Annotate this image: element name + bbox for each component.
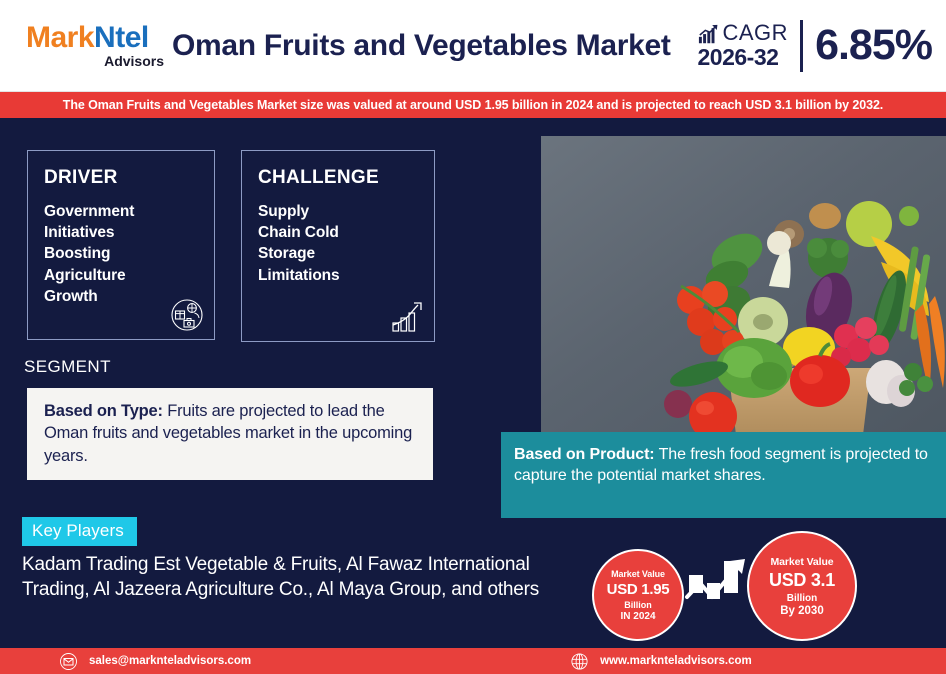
bar-chart-growth-icon bbox=[698, 24, 720, 44]
driver-card: DRIVER Government Initiatives Boosting A… bbox=[27, 150, 215, 340]
cagr-label-row: CAGR bbox=[698, 22, 789, 44]
infographic-page: MarkNtel Advisors Oman Fruits and Vegeta… bbox=[0, 0, 946, 674]
driver-title: DRIVER bbox=[44, 167, 200, 189]
logo-ntel-text: Ntel bbox=[94, 21, 149, 54]
cagr-section: CAGR 2026-32 6.85% bbox=[698, 20, 933, 72]
cagr-years: 2026-32 bbox=[698, 46, 789, 69]
logo-wordmark: MarkNtel bbox=[26, 23, 166, 53]
end-unit: Billion bbox=[787, 593, 818, 604]
footer-website-text: www.marknteladvisors.com bbox=[600, 655, 752, 667]
segment-product-bold: Based on Product: bbox=[514, 446, 655, 463]
market-value-end-circle: Market Value USD 3.1 Billion By 2030 bbox=[747, 531, 857, 641]
footer-website[interactable]: www.marknteladvisors.com bbox=[571, 653, 752, 670]
market-value-start-circle: Market Value USD 1.95 Billion IN 2024 bbox=[592, 549, 684, 641]
driver-text: Government Initiatives Boosting Agricult… bbox=[44, 201, 200, 307]
fruits-and-vegetables-photo bbox=[541, 136, 946, 435]
footer-email-text: sales@marknteladvisors.com bbox=[89, 655, 251, 667]
cagr-value: 6.85% bbox=[815, 21, 932, 70]
footer-bar: sales@marknteladvisors.com www.markntela… bbox=[0, 648, 946, 674]
brand-logo[interactable]: MarkNtel Advisors bbox=[26, 23, 166, 68]
key-players-list: Kadam Trading Est Vegetable & Fruits, Al… bbox=[22, 552, 542, 602]
cagr-label: CAGR bbox=[723, 22, 789, 44]
start-value: USD 1.95 bbox=[607, 581, 670, 598]
start-unit: Billion bbox=[624, 600, 652, 610]
end-label: Market Value bbox=[771, 556, 834, 568]
segment-product-text: Based on Product: The fresh food segment… bbox=[514, 444, 932, 487]
logo-subtitle: Advisors bbox=[26, 54, 166, 68]
footer-email[interactable]: sales@marknteladvisors.com bbox=[60, 653, 251, 670]
end-value: USD 3.1 bbox=[769, 570, 835, 591]
page-title: Oman Fruits and Vegetables Market bbox=[166, 29, 698, 63]
agriculture-logistics-icon bbox=[170, 299, 204, 331]
header-bar: MarkNtel Advisors Oman Fruits and Vegeta… bbox=[0, 0, 946, 92]
challenge-title: CHALLENGE bbox=[258, 167, 420, 189]
envelope-icon bbox=[60, 653, 77, 670]
cagr-divider bbox=[800, 20, 803, 72]
segment-type-box: Based on Type: Fruits are projected to l… bbox=[27, 388, 433, 480]
challenge-text: Supply Chain Cold Storage Limitations bbox=[258, 201, 420, 286]
segment-label: SEGMENT bbox=[24, 357, 111, 377]
growth-arrow-icon bbox=[683, 553, 753, 615]
segment-type-text: Based on Type: Fruits are projected to l… bbox=[44, 400, 419, 467]
globe-icon bbox=[571, 653, 588, 670]
cagr-text-block: CAGR 2026-32 bbox=[698, 22, 801, 69]
summary-banner: The Oman Fruits and Vegetables Market si… bbox=[0, 92, 946, 118]
logo-mark-text: Mark bbox=[26, 21, 94, 54]
growth-bar-chart-icon bbox=[390, 301, 424, 333]
segment-product-box: Based on Product: The fresh food segment… bbox=[501, 432, 946, 518]
end-year: By 2030 bbox=[780, 605, 823, 617]
start-label: Market Value bbox=[611, 569, 665, 579]
key-players-badge: Key Players bbox=[22, 517, 137, 546]
segment-type-bold: Based on Type: bbox=[44, 402, 163, 420]
start-year: IN 2024 bbox=[620, 611, 655, 622]
challenge-card: CHALLENGE Supply Chain Cold Storage Limi… bbox=[241, 150, 435, 342]
